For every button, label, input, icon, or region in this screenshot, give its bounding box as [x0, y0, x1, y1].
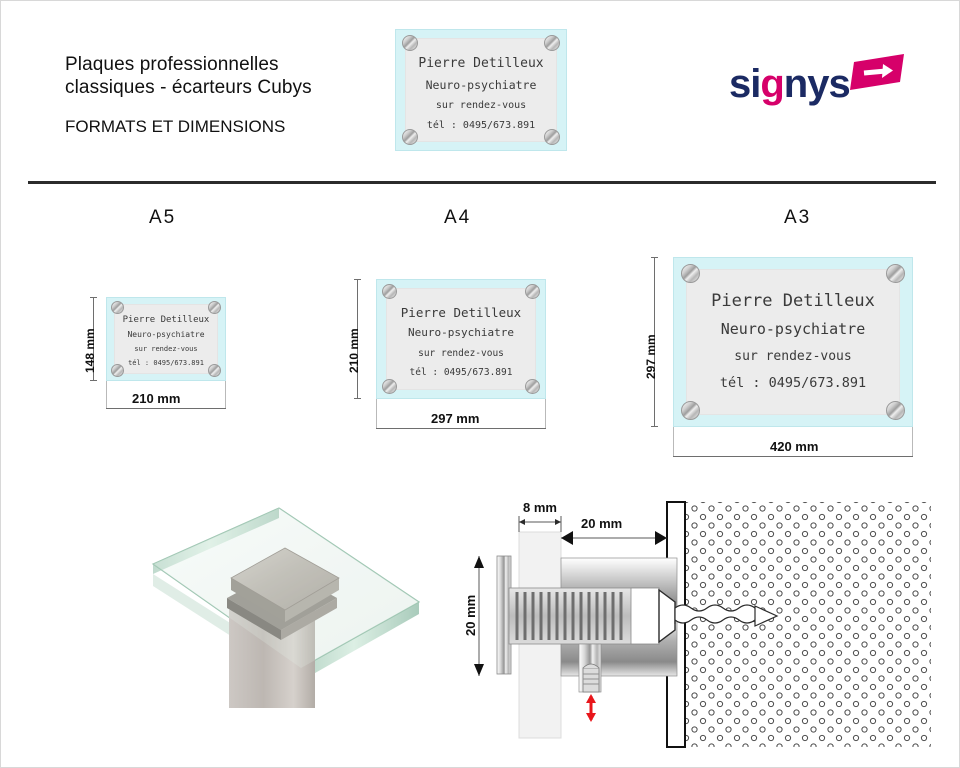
- extension-line: [106, 381, 107, 409]
- title-line-2: classiques - écarteurs Cubys: [65, 76, 395, 99]
- corner-fixing-icon: [382, 379, 397, 394]
- format-label-a3: A3: [784, 207, 811, 229]
- corner-fixing-icon: [402, 129, 418, 145]
- plaque-line-4: tél : 0495/673.891: [107, 359, 225, 367]
- dimension-line-horizontal: [673, 456, 913, 457]
- dimension-width-a3: 420 mm: [770, 439, 818, 454]
- wall-screw: [675, 605, 761, 624]
- corner-fixing-icon: [681, 401, 700, 420]
- plaque-line-4: tél : 0495/673.891: [377, 367, 545, 378]
- extension-line: [376, 399, 377, 429]
- corner-fixing-icon: [208, 301, 221, 314]
- dimension-width-a4: 297 mm: [431, 411, 479, 426]
- corner-fixing-icon: [402, 35, 418, 51]
- logo-text-g: g: [760, 62, 783, 106]
- page-subtitle: FORMATS ET DIMENSIONS: [65, 116, 395, 137]
- plaque-line-3: sur rendez-vous: [107, 345, 225, 353]
- extension-line: [225, 381, 226, 409]
- dimension-tick: [90, 380, 97, 381]
- dimension-tick: [354, 398, 361, 399]
- logo-text-after: nys: [784, 62, 850, 106]
- plaque-line-1: Pierre Detilleux: [107, 315, 225, 325]
- page-title: Plaques professionnelles classiques - éc…: [65, 53, 395, 137]
- plaque-line-1: Pierre Detilleux: [396, 56, 566, 71]
- sign-plate-upper: [519, 532, 561, 590]
- plaque-line-1: Pierre Detilleux: [377, 305, 545, 320]
- dimension-label-20mm-depth: 20 mm: [581, 516, 622, 531]
- dimension-8mm: [519, 516, 561, 532]
- dimension-height-a3: 297 mm: [644, 334, 658, 379]
- signys-logo: signys: [729, 54, 904, 112]
- dimension-tick: [651, 257, 658, 258]
- corner-fixing-icon: [111, 301, 124, 314]
- plaque-line-1: Pierre Detilleux: [674, 291, 912, 311]
- standoff-section-drawing: 8 mm 20 mm 20 mm: [461, 496, 931, 761]
- header-divider: [28, 181, 936, 184]
- dimension-tick: [354, 279, 361, 280]
- corner-fixing-icon: [681, 264, 700, 283]
- plaque-line-2: Neuro-psychiatre: [674, 320, 912, 338]
- datasheet-page: Plaques professionnelles classiques - éc…: [0, 0, 960, 768]
- plaque-line-3: sur rendez-vous: [674, 349, 912, 364]
- extension-line: [673, 427, 674, 457]
- dimension-width-a5: 210 mm: [132, 391, 180, 406]
- logo-wordmark: signys: [729, 64, 850, 104]
- wall-hatch: [685, 502, 931, 747]
- logo-text-before: si: [729, 62, 760, 106]
- cubys-standoff-photo: [151, 506, 421, 721]
- extension-line: [545, 399, 546, 429]
- dimension-label-8mm: 8 mm: [523, 500, 557, 515]
- corner-fixing-icon: [544, 35, 560, 51]
- dimension-label-20mm-diameter: 20 mm: [463, 595, 478, 636]
- dimension-height-a4: 210 mm: [347, 328, 361, 373]
- arrow-right-icon: [850, 54, 906, 92]
- plaque-line-4: tél : 0495/673.891: [396, 120, 566, 131]
- dimension-height-a5: 148 mm: [83, 328, 97, 373]
- corner-fixing-icon: [525, 284, 540, 299]
- red-double-arrow-icon: [586, 694, 596, 722]
- format-label-a5: A5: [149, 207, 176, 229]
- corner-fixing-icon: [544, 129, 560, 145]
- corner-fixing-icon: [886, 264, 905, 283]
- plaque-line-2: Neuro-psychiatre: [107, 330, 225, 339]
- dimension-tick: [90, 297, 97, 298]
- corner-fixing-icon: [525, 379, 540, 394]
- plaque-line-3: sur rendez-vous: [396, 100, 566, 111]
- corner-fixing-icon: [382, 284, 397, 299]
- extension-line: [912, 427, 913, 457]
- dimension-line-horizontal: [376, 428, 546, 429]
- corner-fixing-icon: [886, 401, 905, 420]
- grub-screw: [583, 668, 599, 692]
- dimension-line-horizontal: [106, 408, 226, 409]
- plaque-line-4: tél : 0495/673.891: [674, 375, 912, 391]
- sign-plate-lower: [519, 640, 561, 738]
- plaque-line-2: Neuro-psychiatre: [377, 326, 545, 339]
- format-label-a4: A4: [444, 207, 471, 229]
- plaque-line-3: sur rendez-vous: [377, 348, 545, 359]
- plaque-line-2: Neuro-psychiatre: [396, 78, 566, 92]
- dimension-20mm-depth: [561, 531, 667, 545]
- title-line-1: Plaques professionnelles: [65, 53, 395, 76]
- header-plaque-sample: Pierre Detilleux Neuro-psychiatre sur re…: [395, 29, 567, 151]
- dimension-tick: [651, 426, 658, 427]
